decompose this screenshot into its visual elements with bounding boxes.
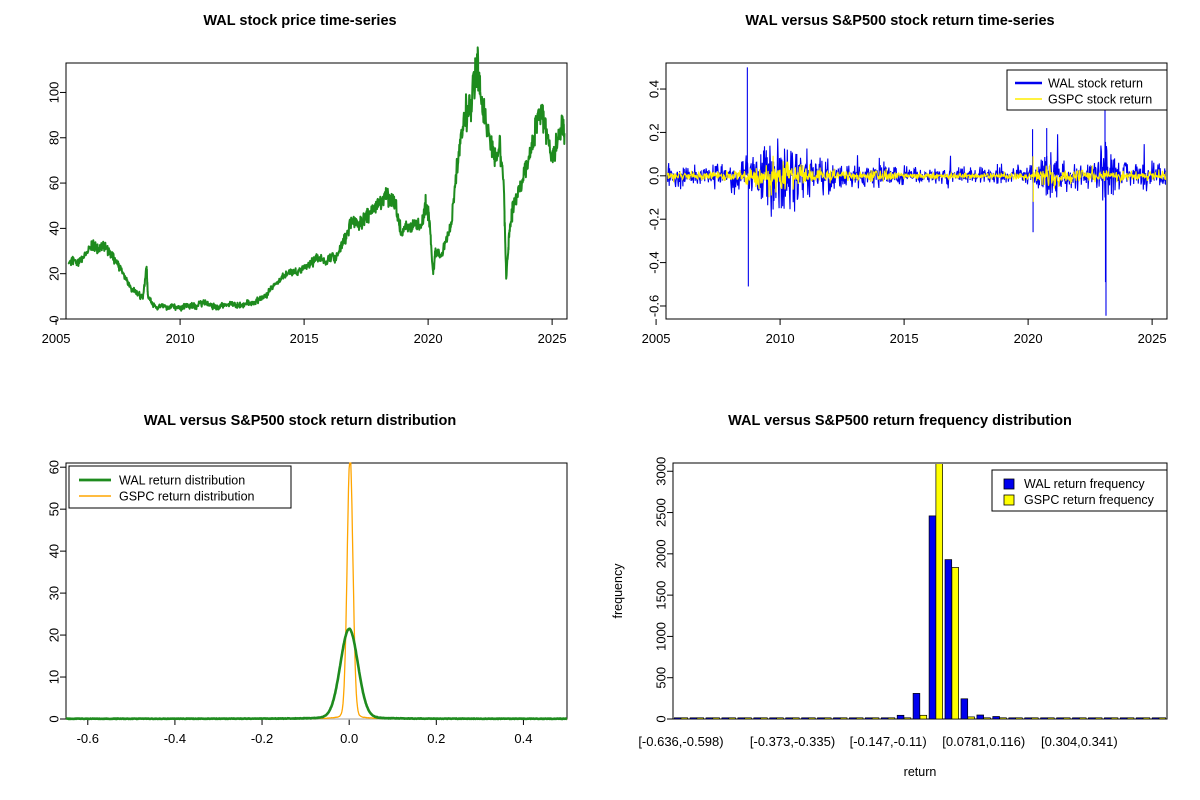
legend-label-1: GSPC return frequency [1024,493,1155,507]
bar-wal [1025,718,1032,719]
x-tick-label: [-0.636,-0.598) [638,734,723,749]
y-tick-label: 0.4 [646,80,661,98]
bar-wal [865,718,872,719]
bar-wal [1152,718,1159,719]
x-tick-label: 2015 [290,331,319,346]
bar-gspc [1000,718,1007,719]
legend-label-0: WAL return frequency [1024,477,1145,491]
y-tick-label: 3000 [653,457,668,486]
y-tick-label: 1500 [653,581,668,610]
bar-gspc [681,718,688,719]
bar-gspc [1016,718,1023,719]
x-tick-label: 0.0 [340,731,358,746]
bar-wal [881,718,888,719]
x-tick-label: 2025 [538,331,567,346]
plot-grid: WAL stock price time-series 020406080100… [0,0,1200,800]
bar-gspc [1095,718,1102,719]
panel-return-distribution: WAL versus S&P500 stock return distribut… [0,400,600,800]
bar-gspc [1048,718,1055,719]
bar-gspc [777,718,784,719]
bar-gspc [840,718,847,719]
y-tick-label: 30 [46,586,61,600]
x-tick-label: 2010 [766,331,795,346]
bar-wal [1009,718,1016,719]
y-tick-label: 100 [46,82,61,104]
y-tick-label: 40 [46,544,61,558]
panel-return-frequency: WAL versus S&P500 return frequency distr… [600,400,1200,800]
x-tick-label: 2005 [642,331,671,346]
y-tick-label: -0.6 [646,295,661,317]
bar-wal [961,699,968,719]
return-timeseries-chart: -0.6-0.4-0.20.00.20.42005201020152020202… [600,0,1200,400]
bar-gspc [697,718,704,719]
bar-wal [1120,718,1127,719]
bar-gspc [888,718,895,719]
x-tick-label: 0.4 [514,731,532,746]
y-tick-label: 40 [46,221,61,235]
y-tick-label: 60 [46,460,61,474]
bar-wal [929,516,936,719]
bar-gspc [872,718,879,719]
bar-wal [1104,718,1111,719]
plot-box [66,63,567,319]
y-tick-label: 60 [46,176,61,190]
bar-wal [706,718,713,719]
y-tick-label: 10 [46,670,61,684]
bar-wal [754,718,761,719]
bar-wal [993,717,1000,720]
bar-gspc [1032,718,1039,719]
x-tick-label: 0.2 [427,731,445,746]
bar-wal [1136,718,1143,719]
bar-gspc [1079,718,1086,719]
panel-wal-price-timeseries: WAL stock price time-series 020406080100… [0,0,600,400]
legend-swatch-0 [1004,479,1014,489]
bar-gspc [904,718,911,719]
bar-gspc [745,718,752,719]
y-tick-label: 2500 [653,498,668,527]
y-tick-label: -0.4 [646,251,661,273]
bar-gspc [952,568,959,720]
legend-label-0: WAL stock return [1048,77,1143,91]
x-tick-label: [0.304,0.341) [1041,734,1118,749]
bar-wal [722,718,729,719]
bar-wal [738,718,745,719]
y-tick-label: 1000 [653,622,668,651]
bar-wal [674,718,681,719]
y-tick-label: 0.0 [646,167,661,185]
y-tick-label: 0 [46,715,61,722]
x-tick-label: 2015 [890,331,919,346]
bar-gspc [824,718,831,719]
bar-gspc [1143,718,1150,719]
bar-wal [770,718,777,719]
x-tick-label: 2025 [1138,331,1167,346]
bar-wal [690,718,697,719]
x-tick-label: 2010 [166,331,195,346]
x-tick-label: 2020 [1014,331,1043,346]
x-axis-label: return [904,765,937,779]
legend-swatch-1 [1004,495,1014,505]
bar-gspc [729,718,736,719]
y-tick-label: 500 [653,667,668,689]
x-tick-label: [-0.373,-0.335) [750,734,835,749]
y-tick-label: 0 [46,315,61,322]
panel-return-timeseries: WAL versus S&P500 stock return time-seri… [600,0,1200,400]
bar-wal [786,718,793,719]
legend-label-0: WAL return distribution [119,474,245,488]
bar-gspc [984,718,991,719]
bar-wal [1073,718,1080,719]
legend-label-1: GSPC return distribution [119,490,255,504]
bar-gspc [856,718,863,719]
bar-gspc [793,718,800,719]
x-tick-label: -0.2 [251,731,273,746]
x-tick-label: [-0.147,-0.11) [850,734,927,749]
bar-wal [849,718,856,719]
y-tick-label: 20 [46,628,61,642]
y-tick-label: 20 [46,266,61,280]
wal-price-chart: 02040608010020052010201520202025 [0,0,600,400]
x-tick-label: 2020 [414,331,443,346]
x-tick-label: -0.6 [77,731,99,746]
bar-wal [897,715,904,719]
bar-wal [802,718,809,719]
bar-gspc [920,715,927,719]
bar-wal [834,718,841,719]
bar-wal [945,560,952,719]
bar-gspc [809,718,816,719]
x-tick-label: 2005 [42,331,71,346]
y-axis-label: frequency [611,563,625,619]
y-tick-label: 2000 [653,539,668,568]
legend-label-1: GSPC stock return [1048,93,1152,107]
y-tick-label: 0 [653,715,668,722]
bar-gspc [968,717,975,719]
return-density-chart: 0102030405060-0.6-0.4-0.20.00.20.4WAL re… [0,400,600,800]
bar-gspc [1063,718,1070,719]
y-tick-label: 80 [46,131,61,145]
bar-gspc [761,718,768,719]
bar-gspc [936,432,943,719]
y-tick-label: 50 [46,502,61,516]
bar-gspc [1127,718,1134,719]
bar-gspc [713,718,720,719]
bar-wal [913,693,920,719]
bar-gspc [1111,718,1118,719]
bar-wal [977,715,984,719]
bar-wal [1088,718,1095,719]
series-wal-density [66,629,567,719]
bar-wal [1057,718,1064,719]
bar-wal [818,718,825,719]
y-tick-label: -0.2 [646,208,661,230]
return-frequency-chart: 050010001500200025003000frequency[-0.636… [600,400,1200,800]
bar-wal [1041,718,1048,719]
x-tick-label: -0.4 [164,731,186,746]
y-tick-label: 0.2 [646,123,661,141]
bar-gspc [1159,718,1166,719]
x-tick-label: [0.0781,0.116) [942,734,1025,749]
series-wal-price [69,47,565,310]
